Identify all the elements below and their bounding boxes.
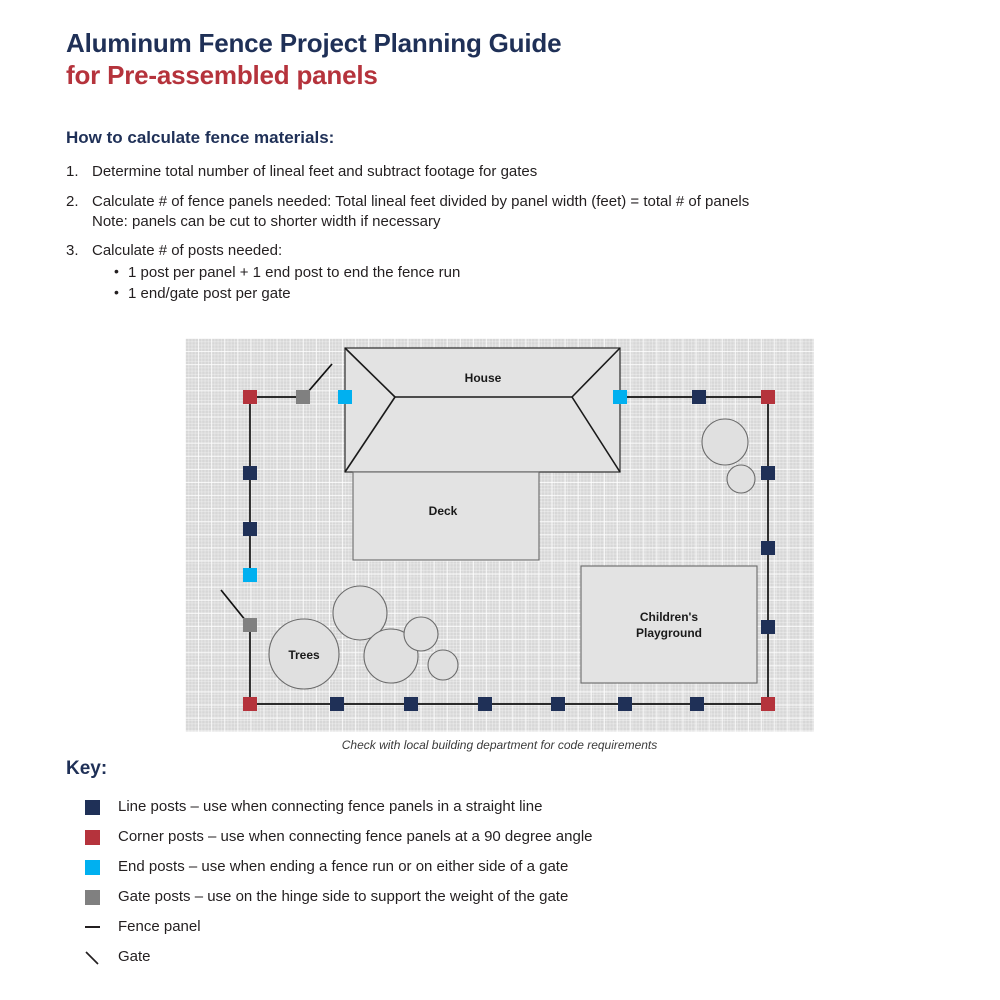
corner-post-marker — [761, 390, 775, 404]
end-post-marker — [338, 390, 352, 404]
end-post-marker — [613, 390, 627, 404]
step-text: Calculate # of fence panels needed: Tota… — [92, 192, 946, 212]
line-post-marker — [478, 697, 492, 711]
line-post-swatch — [85, 800, 100, 815]
howto-step-2: 2. Calculate # of fence panels needed: T… — [66, 192, 946, 232]
tree-circle — [404, 617, 438, 651]
line-post-marker — [692, 390, 706, 404]
line-post-marker — [404, 697, 418, 711]
key-item-corner-posts: Corner posts – use when connecting fence… — [66, 822, 946, 852]
howto-heading: How to calculate fence materials: — [66, 128, 946, 148]
playground-label-line1: Children's — [640, 610, 699, 624]
step-text: Determine total number of lineal feet an… — [92, 163, 537, 180]
playground-shape — [581, 566, 757, 683]
end-post-marker — [243, 568, 257, 582]
diagram-canvas: House Deck Children's Playground Trees — [185, 338, 814, 732]
gate-swing-lines — [221, 364, 332, 621]
step-note: Note: panels can be cut to shorter width… — [92, 212, 946, 232]
key-item-gate-posts: Gate posts – use on the hinge side to su… — [66, 882, 946, 912]
title-secondary: for Pre-assembled panels — [66, 60, 561, 92]
key-item-label: Fence panel — [118, 918, 201, 936]
sublist-item: 1 end/gate post per gate — [92, 284, 946, 304]
gate-symbol — [84, 949, 101, 966]
step-number: 2. — [66, 192, 92, 232]
deck-label: Deck — [429, 504, 458, 518]
page-title: Aluminum Fence Project Planning Guide fo… — [66, 28, 561, 91]
gate-symbol-icon — [66, 949, 118, 966]
step-number: 3. — [66, 241, 92, 304]
line-post-marker — [330, 697, 344, 711]
howto-step-3: 3. Calculate # of posts needed: 1 post p… — [66, 241, 946, 304]
yard-layout-diagram: House Deck Children's Playground Trees — [185, 338, 814, 732]
corner-post-swatch-icon — [66, 830, 118, 845]
key-item-label: Corner posts – use when connecting fence… — [118, 828, 593, 846]
key-legend: Key: Line posts – use when connecting fe… — [66, 758, 946, 972]
line-post-swatch-icon — [66, 800, 118, 815]
fence-panel-symbol — [85, 926, 100, 928]
key-item-label: Gate posts – use on the hinge side to su… — [118, 888, 568, 906]
key-item-end-posts: End posts – use when ending a fence run … — [66, 852, 946, 882]
end-post-swatch — [85, 860, 100, 875]
house-label: House — [465, 371, 502, 385]
gate-post-swatch — [85, 890, 100, 905]
tree-circle — [702, 419, 748, 465]
end-post-swatch-icon — [66, 860, 118, 875]
trees-label: Trees — [288, 648, 320, 662]
corner-post-marker — [243, 697, 257, 711]
key-item-label: End posts – use when ending a fence run … — [118, 858, 568, 876]
house-shape — [345, 348, 620, 472]
line-post-marker — [551, 697, 565, 711]
line-post-marker — [761, 466, 775, 480]
howto-section: How to calculate fence materials: 1. Det… — [66, 128, 946, 314]
sublist-item: 1 post per panel + 1 end post to end the… — [92, 263, 946, 283]
key-heading: Key: — [66, 758, 946, 780]
step-text: Calculate # of posts needed: — [92, 241, 946, 261]
title-primary: Aluminum Fence Project Planning Guide — [66, 28, 561, 60]
line-post-marker — [761, 541, 775, 555]
line-post-marker — [243, 522, 257, 536]
playground-label-line2: Playground — [636, 626, 702, 640]
key-item-label: Line posts – use when connecting fence p… — [118, 798, 542, 816]
key-item-fence-panel: Fence panel — [66, 912, 946, 942]
gate-post-swatch-icon — [66, 890, 118, 905]
gate-post-marker — [243, 618, 257, 632]
gate-swing-top — [307, 364, 332, 393]
line-post-marker — [761, 620, 775, 634]
key-item-label: Gate — [118, 948, 151, 966]
corner-post-marker — [761, 697, 775, 711]
step-sublist: 1 post per panel + 1 end post to end the… — [92, 263, 946, 304]
corner-post-swatch — [85, 830, 100, 845]
gate-post-marker — [296, 390, 310, 404]
key-item-line-posts: Line posts – use when connecting fence p… — [66, 792, 946, 822]
tree-circle — [727, 465, 755, 493]
fence-panel-symbol-icon — [66, 926, 118, 928]
step-number: 1. — [66, 162, 92, 182]
tree-circle — [428, 650, 458, 680]
corner-post-marker — [243, 390, 257, 404]
line-post-marker — [618, 697, 632, 711]
line-post-marker — [243, 466, 257, 480]
gate-swing-left — [221, 590, 246, 621]
howto-step-1: 1. Determine total number of lineal feet… — [66, 162, 946, 182]
diagram-caption: Check with local building department for… — [185, 738, 814, 752]
line-post-marker — [690, 697, 704, 711]
key-item-gate: Gate — [66, 942, 946, 972]
